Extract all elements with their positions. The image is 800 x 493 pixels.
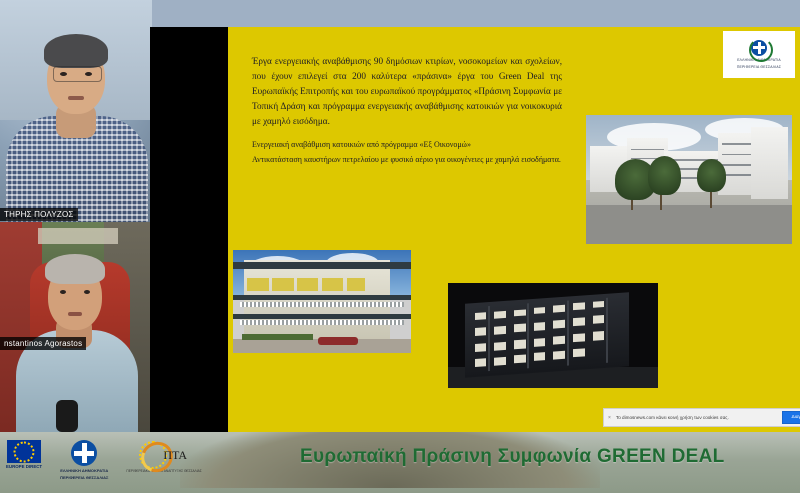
night-window (573, 302, 584, 309)
night-window (553, 305, 564, 312)
cookie-banner-text: Το dimosnews.com κάνει κοινή χρήση των c… (616, 415, 777, 421)
hospital-window-band-9 (722, 164, 751, 166)
night-window (573, 348, 584, 357)
night-column (566, 301, 568, 366)
night-building (465, 292, 629, 377)
greek-cross-emblem-icon (71, 440, 97, 466)
participant-1-mouth (68, 96, 84, 100)
laurel-wreath-icon (749, 38, 773, 62)
video-tile-participant-1[interactable]: ΤΗΡΗΣ ΠΟΛΥΖΟΣ (0, 0, 152, 222)
night-window (573, 317, 584, 326)
hospital-window-band-1 (631, 149, 664, 151)
footer-title: Ευρωπαϊκή Πράσινη Συμφωνία GREEN DEAL (300, 446, 725, 468)
office-balcony-rail-2 (240, 320, 404, 325)
office-car (318, 337, 357, 345)
night-column (527, 303, 529, 368)
night-window (494, 326, 505, 335)
night-window (553, 319, 564, 328)
office-lower-band (233, 314, 411, 319)
night-window (514, 309, 525, 316)
slide-paragraph-3: Αντικατάσταση καυστήρων πετρελαίου με φυ… (252, 154, 562, 167)
night-window (514, 340, 525, 349)
office-louver-1 (247, 278, 268, 291)
hospital-tree-2 (648, 156, 681, 195)
night-window (534, 321, 545, 330)
night-window (593, 315, 604, 324)
pta-mark-icon: ΠΤΑ (141, 440, 187, 468)
night-window (593, 300, 604, 307)
hospital-render-image (586, 115, 792, 244)
night-window (534, 307, 545, 314)
hospital-window-band-7 (722, 143, 751, 145)
screen: ΤΗΡΗΣ ΠΟΛΥΖΟΣ nstantinos Agorastos (0, 0, 800, 493)
night-window (534, 352, 545, 361)
night-window (514, 323, 525, 332)
night-window (553, 350, 564, 359)
participant-2-mouth (68, 312, 82, 316)
hellenic-republic-footer-logo: ΕΛΛΗΝΙΚΗ ΔΗΜΟΚΡΑΤΙΑ ΠΕΡΙΦΕΡΕΙΑ ΘΕΣΣΑΛΙΑΣ (60, 440, 108, 480)
night-column (488, 306, 490, 371)
slide-paragraph-1: Έργα ενεργειακής αναβάθμισης 90 δημόσιων… (252, 54, 562, 129)
night-window (475, 327, 486, 336)
hospital-window-band-8 (722, 154, 751, 156)
office-render-image (233, 250, 411, 353)
office-balcony-rail-1 (240, 302, 404, 307)
video-participant-column: ΤΗΡΗΣ ΠΟΛΥΖΟΣ nstantinos Agorastos (0, 0, 152, 432)
hospital-window-band-10 (722, 174, 751, 176)
night-window (534, 337, 545, 346)
eu-flag-icon (7, 440, 41, 463)
footer-logo-group: EUROPE DIRECT ΕΛΛΗΝΙΚΗ ΔΗΜΟΚΡΑΤΙΑ ΠΕΡΙΦΕ… (6, 440, 202, 480)
office-louver-3 (297, 278, 318, 291)
europe-direct-caption: EUROPE DIRECT (6, 464, 42, 469)
europe-direct-logo: EUROPE DIRECT (6, 440, 42, 469)
hellenic-republic-logo: ΕΛΛΗΝΙΚΗ ΔΗΜΟΚΡΑΤΙΑ ΠΕΡΙΦΕΡΕΙΑ ΘΕΣΣΑΛΙΑΣ (723, 31, 795, 78)
office-louver-4 (322, 278, 343, 291)
cookie-accept-button[interactable]: Διαγραφή κοινής χρήσης (782, 411, 800, 424)
night-window (494, 342, 505, 351)
pta-logo: ΠΤΑ ΠΕΡΙΦΕΡΕΙΑΚΟ ΤΑΜΕΙΟ ΑΝΑΠΤΥΞΗΣ ΘΕΣΣΑΛ… (126, 440, 201, 473)
participant-2-name-label: nstantinos Agorastos (0, 337, 86, 350)
cookie-close-icon[interactable]: × (608, 415, 611, 421)
participant-1-name-label: ΤΗΡΗΣ ΠΟΛΥΖΟΣ (0, 208, 78, 221)
office-shrubs (242, 334, 313, 339)
night-window (494, 356, 505, 365)
office-louver-2 (272, 278, 293, 291)
night-window (514, 354, 525, 363)
office-roof-band (233, 262, 411, 269)
hospital-building-far-right (751, 127, 788, 199)
hospital-road (586, 205, 792, 244)
cookie-consent-banner[interactable]: × Το dimosnews.com κάνει κοινή χρήση των… (603, 408, 800, 427)
participant-2-hair (45, 254, 105, 284)
video-tile-participant-2[interactable] (0, 222, 152, 432)
night-render-image (448, 283, 658, 388)
presentation-slide[interactable]: ΕΛΛΗΝΙΚΗ ΔΗΜΟΚΡΑΤΙΑ ΠΕΡΙΦΕΡΕΙΑ ΘΕΣΣΑΛΙΑΣ… (228, 27, 800, 432)
slide-body-text: Έργα ενεργειακής αναβάθμισης 90 δημόσιων… (252, 54, 562, 168)
participant-2-eye-right (84, 290, 90, 294)
participant-2-microphone (56, 400, 78, 432)
participant-2-eye-left (60, 290, 66, 294)
slide-paragraph-2: Ενεργειακή αναβάθμιση κατοικιών από πρόγ… (252, 139, 562, 152)
participant-1-eye-right (85, 72, 92, 76)
participant-2-shelf (38, 228, 118, 244)
night-window (573, 333, 584, 342)
hospital-tree-3 (697, 159, 726, 193)
gov-logo-line2: ΠΕΡΙΦΕΡΕΙΑ ΘΕΣΣΑΛΙΑΣ (737, 65, 781, 70)
greek-cross-emblem-icon (751, 40, 767, 56)
night-window (553, 335, 564, 344)
hellenic-republic-line2: ΠΕΡΙΦΕΡΕΙΑ ΘΕΣΣΑΛΙΑΣ (60, 475, 108, 480)
pta-wordmark: ΠΤΑ (163, 448, 187, 463)
office-louver-5 (347, 278, 365, 291)
hellenic-republic-line1: ΕΛΛΗΝΙΚΗ ΔΗΜΟΚΡΑΤΙΑ (60, 468, 108, 473)
eu-stars-icon (14, 441, 35, 462)
participant-1-hair (44, 34, 108, 68)
night-window (475, 358, 486, 367)
night-window (475, 343, 486, 352)
office-mid-band (233, 295, 411, 300)
night-window (494, 311, 505, 318)
night-window (593, 331, 604, 340)
night-column (606, 298, 608, 363)
participant-1-eye-left (60, 72, 67, 76)
night-window (475, 312, 486, 319)
